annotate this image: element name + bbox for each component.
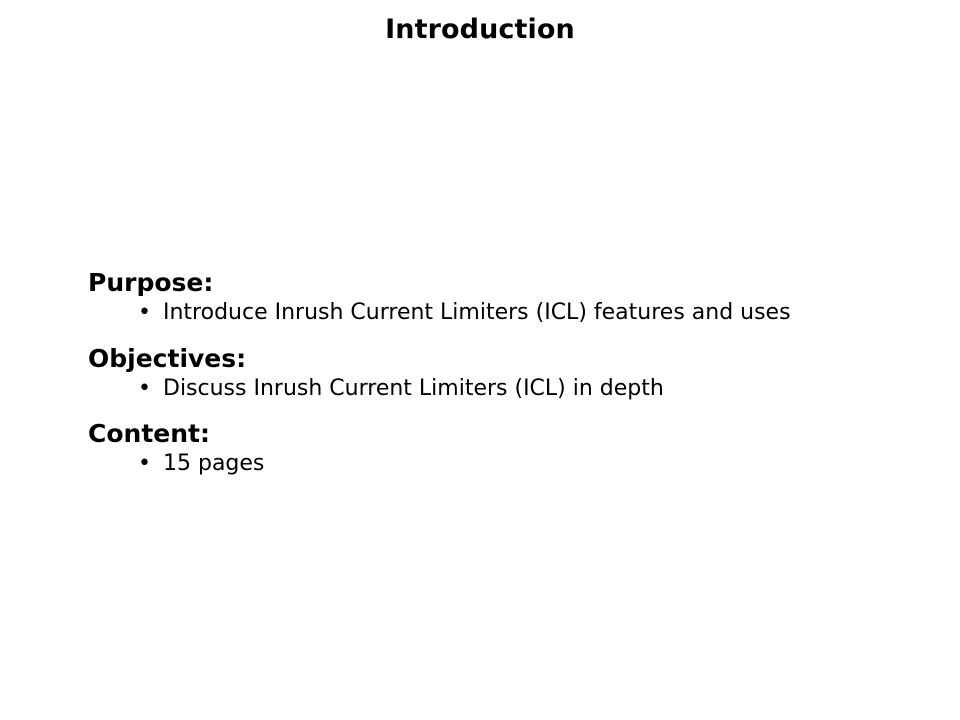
slide-body: Purpose: • Introduce Inrush Current Limi… [88, 268, 938, 479]
list-item: • Introduce Inrush Current Limiters (ICL… [88, 299, 938, 328]
presentation-slide: Introduction Purpose: • Introduce Inrush… [0, 0, 960, 720]
section-purpose: Purpose: • Introduce Inrush Current Limi… [88, 268, 938, 328]
bullet-dot-icon: • [138, 299, 163, 328]
section-heading-purpose: Purpose: [88, 268, 938, 297]
list-item: • Discuss Inrush Current Limiters (ICL) … [88, 375, 938, 404]
bullet-list-content: • 15 pages [88, 450, 938, 479]
bullet-dot-icon: • [138, 450, 163, 479]
section-heading-content: Content: [88, 419, 938, 448]
page-title: Introduction [0, 14, 960, 45]
list-item-label: 15 pages [163, 450, 264, 479]
section-heading-objectives: Objectives: [88, 344, 938, 373]
list-item-label: Discuss Inrush Current Limiters (ICL) in… [163, 375, 664, 404]
bullet-dot-icon: • [138, 375, 163, 404]
list-item: • 15 pages [88, 450, 938, 479]
section-content: Content: • 15 pages [88, 419, 938, 479]
section-objectives: Objectives: • Discuss Inrush Current Lim… [88, 344, 938, 404]
bullet-list-objectives: • Discuss Inrush Current Limiters (ICL) … [88, 375, 938, 404]
list-item-label: Introduce Inrush Current Limiters (ICL) … [163, 299, 791, 328]
bullet-list-purpose: • Introduce Inrush Current Limiters (ICL… [88, 299, 938, 328]
